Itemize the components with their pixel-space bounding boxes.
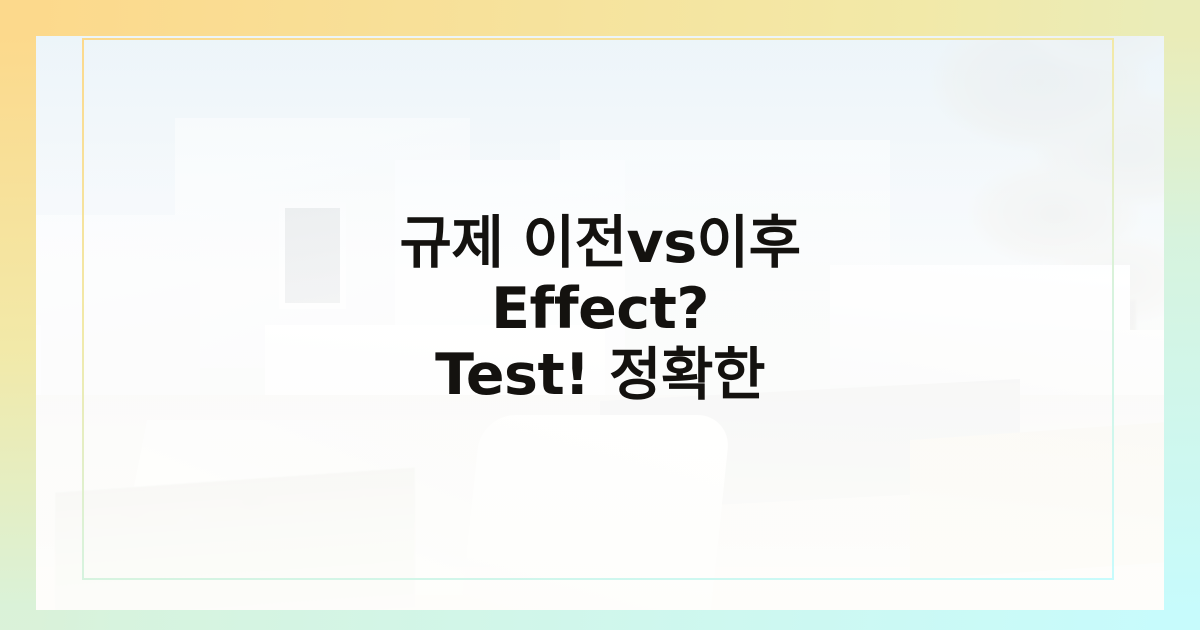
title-line-1: 규제 이전vs이후	[399, 210, 800, 276]
title-line-3: Test! 정확한	[399, 342, 800, 408]
title-line-2: Effect?	[399, 276, 800, 342]
title-container: 규제 이전vs이후 Effect? Test! 정확한	[0, 0, 1200, 630]
share-card: 규제 이전vs이후 Effect? Test! 정확한	[0, 0, 1200, 630]
page-title: 규제 이전vs이후 Effect? Test! 정확한	[399, 210, 800, 408]
